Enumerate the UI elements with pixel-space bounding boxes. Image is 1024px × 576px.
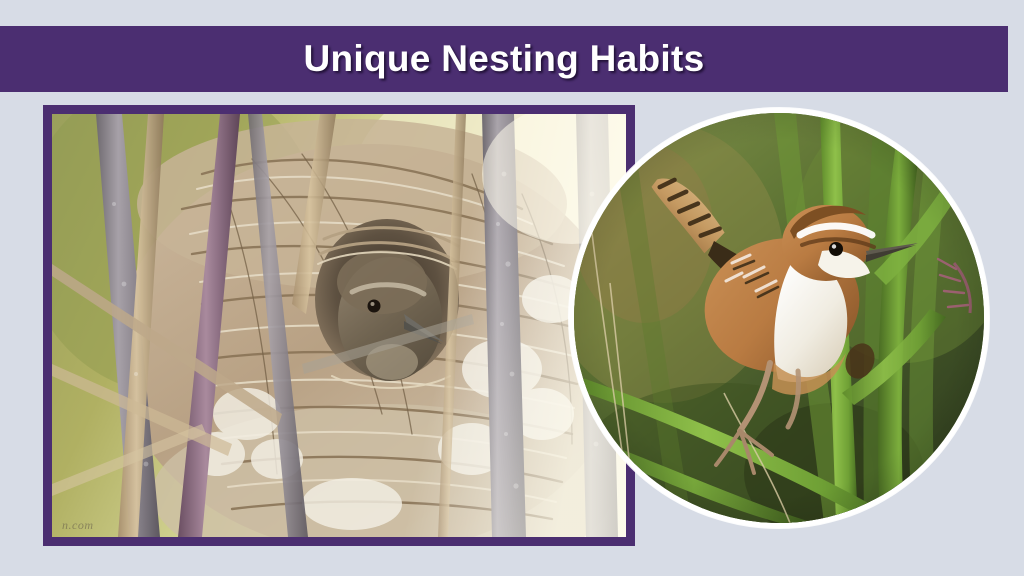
marsh-wren-perched-image (574, 113, 984, 523)
title-banner: Unique Nesting Habits (0, 26, 1008, 92)
marsh-wren-in-domed-nest-image: n.com (52, 114, 626, 537)
wren-photo-circle-frame (569, 108, 989, 528)
slide-canvas: Unique Nesting Habits (0, 0, 1024, 576)
nest-photo-frame: n.com (43, 105, 635, 546)
page-title: Unique Nesting Habits (304, 38, 705, 80)
